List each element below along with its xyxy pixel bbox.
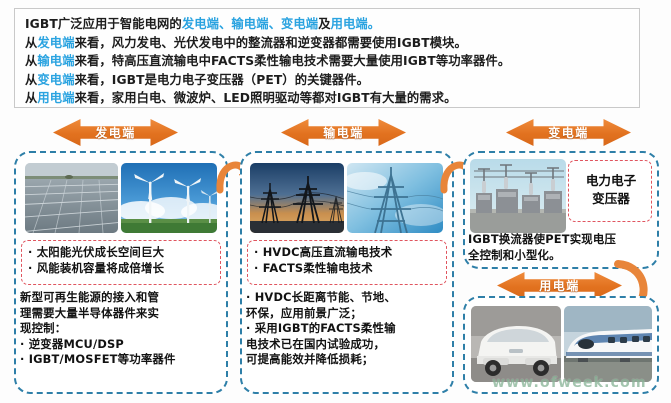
generation-body-line-1: 新型可再生能源的接入和管 bbox=[20, 290, 225, 306]
transmission-bullet-2: · FACTS柔性输电技术 bbox=[254, 261, 446, 277]
arrow-generation-label: 发电端 bbox=[95, 124, 136, 141]
intro-run-3-1: 变电端 bbox=[37, 73, 74, 87]
intro-line-3: 从输电端来看，特高压直流输电中FACTS柔性输电技术需要大量使用IGBT等功率器… bbox=[25, 52, 631, 71]
transmission-body-line-4: 电技术已在国内试验成功， bbox=[246, 337, 451, 353]
intro-run-2-0: 从 bbox=[25, 54, 37, 68]
transmission-tower-sky-photo bbox=[347, 163, 443, 233]
arrow-transmission-label: 输电端 bbox=[323, 124, 364, 141]
intro-run-0-0: IGBT广泛应用于智能电网的 bbox=[25, 17, 182, 31]
intro-run-1-0: 从 bbox=[25, 36, 37, 50]
high-speed-train-photo bbox=[564, 306, 652, 382]
arrow-substation-label: 变电端 bbox=[548, 124, 589, 141]
transmission-body-text: · HVDC长距离节能、节地、 环保，应用前景广泛； · 采用IGBT的FACT… bbox=[246, 290, 451, 368]
substation-body-line-1: IGBT换流器使PET实现电压 bbox=[468, 232, 658, 248]
intro-run-1-2: 来看，风力发电、光伏发电中的整流器和逆变器都需要使用IGBT模块。 bbox=[75, 36, 467, 50]
solar-farm-photo bbox=[25, 163, 118, 233]
watermark: www.ofweek.com bbox=[492, 375, 647, 391]
generation-body-line-3: 现控制： bbox=[20, 321, 225, 337]
transmission-body-line-5: 可提高能效并降低损耗； bbox=[246, 352, 451, 368]
intro-line-1: IGBT广泛应用于智能电网的发电端、输电端、变电端及用电端。 bbox=[25, 15, 631, 34]
intro-run-4-0: 从 bbox=[25, 91, 37, 105]
intro-run-4-2: 来看，家用白电、微波炉、LED照明驱动等都对IGBT有大量的需求。 bbox=[75, 91, 457, 105]
intro-run-0-3: 用电端。 bbox=[331, 17, 381, 31]
generation-body-line-5: · IGBT/MOSFET等功率器件 bbox=[20, 352, 225, 368]
intro-run-4-1: 用电端 bbox=[37, 91, 74, 105]
intro-run-3-0: 从 bbox=[25, 73, 37, 87]
intro-line-5: 从用电端来看，家用白电、微波炉、LED照明驱动等都对IGBT有大量的需求。 bbox=[25, 89, 631, 108]
arrow-generation: 发电端 bbox=[53, 119, 178, 146]
intro-line-2: 从发电端来看，风力发电、光伏发电中的整流器和逆变器都需要使用IGBT模块。 bbox=[25, 34, 631, 53]
transmission-body-line-2: 环保，应用前景广泛； bbox=[246, 306, 451, 322]
transmission-body-line-1: · HVDC长距离节能、节地、 bbox=[246, 290, 451, 306]
pet-highlight-box: 电力电子 变压器 bbox=[568, 160, 652, 222]
intro-run-3-2: 来看，IGBT是电力电子变压器（PET）的关键器件。 bbox=[75, 73, 369, 87]
intro-run-2-2: 来看，特高压直流输电中FACTS柔性输电技术需要大量使用IGBT等功率器件。 bbox=[75, 54, 511, 68]
white-car-photo bbox=[471, 306, 561, 382]
intro-line-4: 从变电端来看，IGBT是电力电子变压器（PET）的关键器件。 bbox=[25, 71, 631, 90]
intro-text-box: IGBT广泛应用于智能电网的发电端、输电端、变电端及用电端。 从发电端来看，风力… bbox=[14, 8, 640, 108]
generation-bullet-1: · 太阳能光伏成长空间巨大 bbox=[28, 245, 220, 261]
arrow-consumption-label: 用电端 bbox=[539, 277, 580, 294]
generation-body-line-4: · 逆变器MCU/DSP bbox=[20, 337, 225, 353]
generation-highlight-box: · 太阳能光伏成长空间巨大 · 风能装机容量将成倍增长 bbox=[21, 240, 221, 285]
intro-run-0-1: 发电端、输电端、变电端 bbox=[182, 17, 318, 31]
transmission-highlight-box: · HVDC高压直流输电技术 · FACTS柔性输电技术 bbox=[247, 240, 447, 285]
arrow-substation: 变电端 bbox=[506, 119, 631, 146]
infographic-canvas: IGBT广泛应用于智能电网的发电端、输电端、变电端及用电端。 从发电端来看，风力… bbox=[0, 0, 671, 403]
substation-photo bbox=[470, 159, 566, 233]
pet-label-line-2: 变压器 bbox=[569, 190, 653, 207]
pet-label-line-1: 电力电子 bbox=[569, 172, 653, 189]
intro-run-1-1: 发电端 bbox=[37, 36, 74, 50]
arrow-transmission: 输电端 bbox=[281, 119, 406, 146]
intro-run-2-1: 输电端 bbox=[37, 54, 74, 68]
transmission-bullet-1: · HVDC高压直流输电技术 bbox=[254, 245, 446, 261]
generation-body-line-2: 理需要大量半导体器件来实 bbox=[20, 306, 225, 322]
wind-turbines-photo bbox=[121, 163, 217, 233]
transmission-towers-sunset-photo bbox=[250, 163, 344, 233]
generation-body-text: 新型可再生能源的接入和管 理需要大量半导体器件来实 现控制： · 逆变器MCU/… bbox=[20, 290, 225, 368]
transmission-body-line-3: · 采用IGBT的FACTS柔性输 bbox=[246, 321, 451, 337]
intro-run-0-2: 及 bbox=[318, 17, 330, 31]
generation-bullet-2: · 风能装机容量将成倍增长 bbox=[28, 261, 220, 277]
arrow-consumption: 用电端 bbox=[497, 272, 622, 299]
